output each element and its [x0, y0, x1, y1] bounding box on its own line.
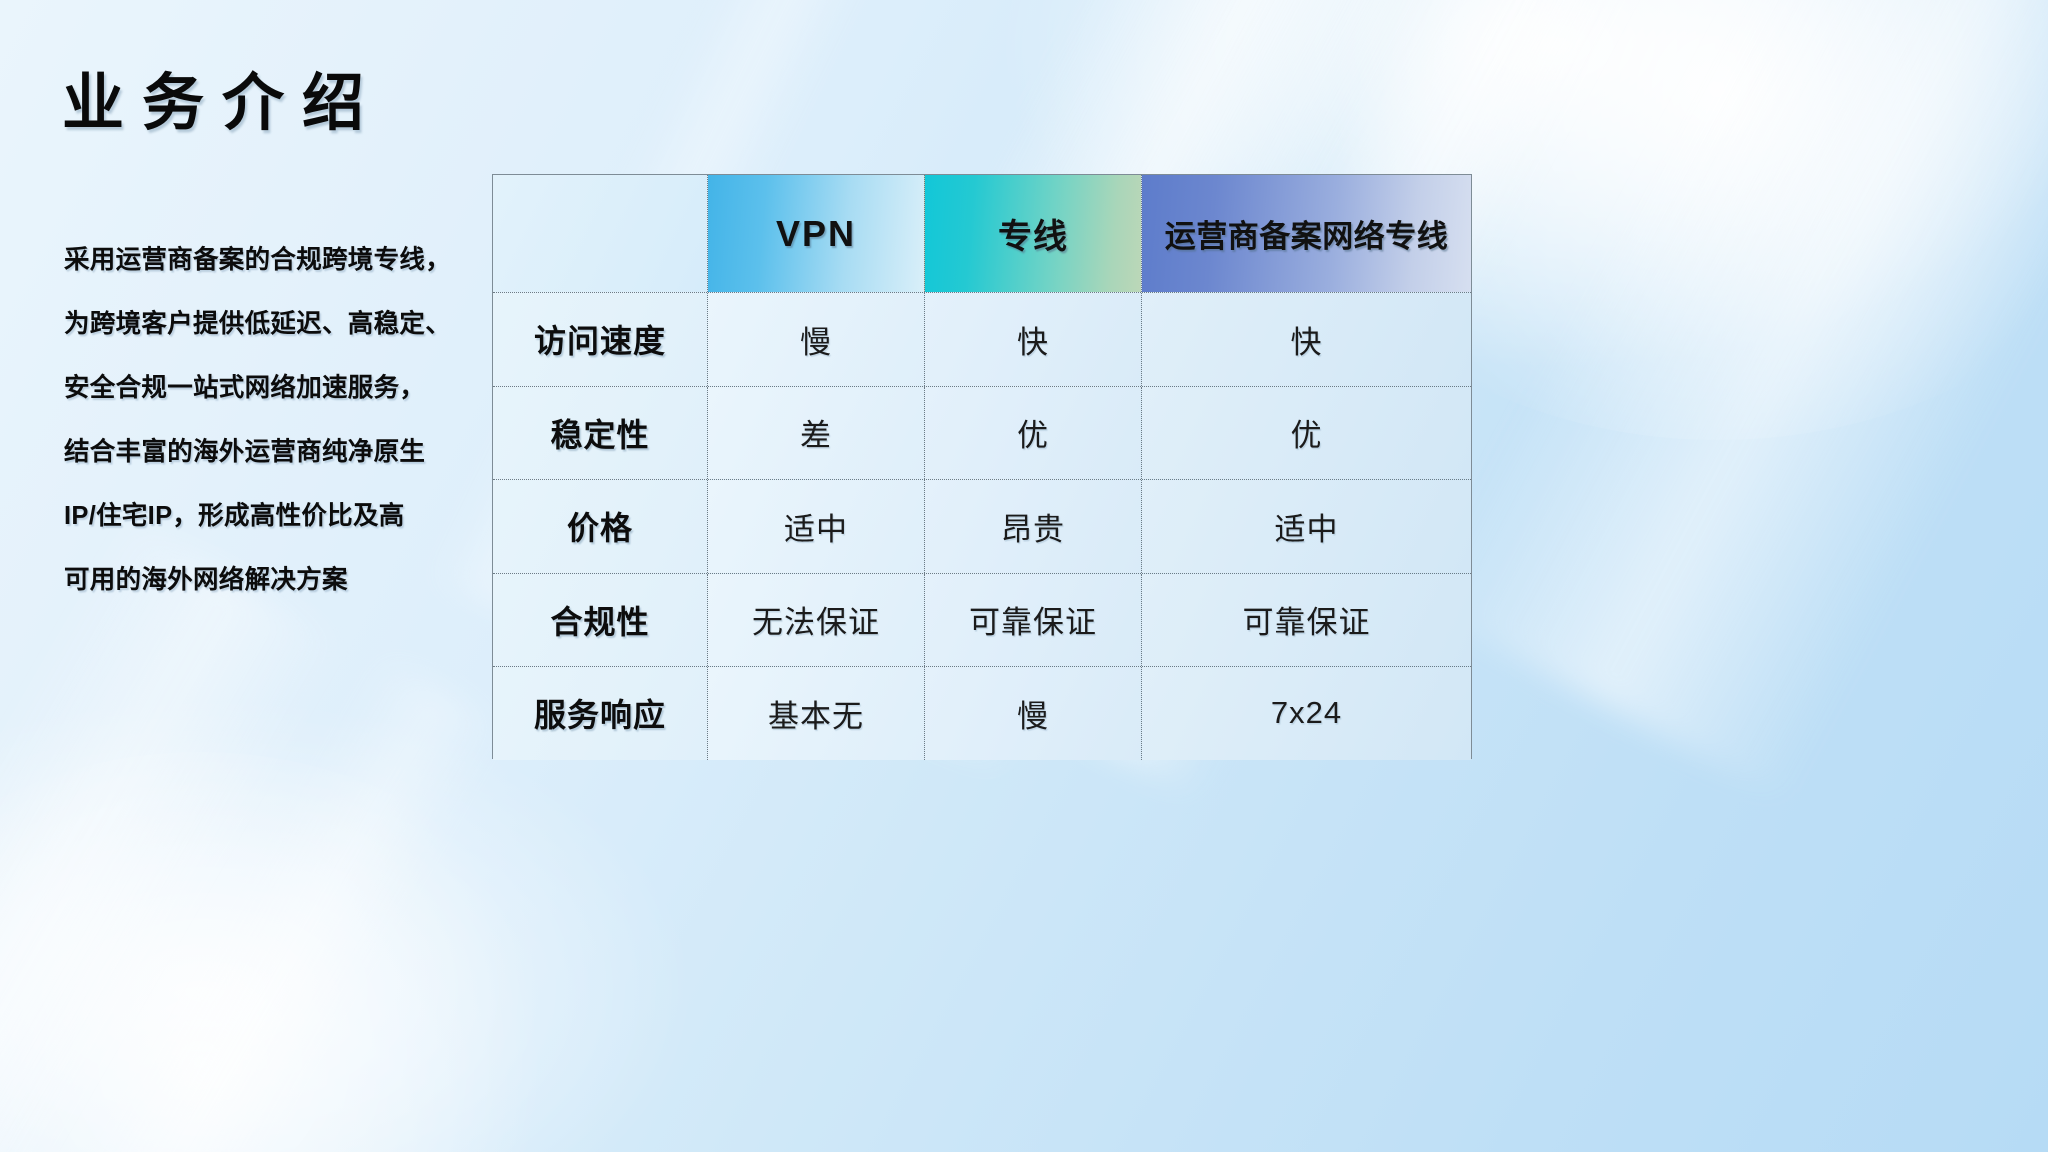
cell-value: 适中	[1275, 504, 1339, 549]
cell-value: 慢	[1017, 691, 1049, 736]
table-header-vpn: VPN	[707, 175, 924, 292]
cell-value: 7x24	[1271, 695, 1342, 731]
cell-value: 昂贵	[1001, 504, 1065, 549]
bottom-left-glow	[0, 752, 580, 1152]
cell-value: 优	[1291, 410, 1323, 455]
table-cell: 优	[924, 387, 1141, 480]
table-row: 稳定性 差 优 优	[493, 386, 1471, 480]
cell-value: 慢	[800, 317, 832, 362]
page-title: 业务介绍	[62, 52, 382, 142]
cell-value: 快	[1017, 317, 1049, 362]
table-header-row: VPN 专线 运营商备案网络专线	[493, 175, 1471, 292]
table-header-corner	[493, 175, 707, 292]
paragraph-line: 采用运营商备案的合规跨境专线，	[64, 228, 484, 292]
table-header-label: VPN	[776, 213, 856, 255]
table-header-registered-line: 运营商备案网络专线	[1141, 175, 1471, 292]
light-streak	[1415, 0, 2048, 801]
row-label: 合规性	[550, 597, 649, 643]
table-row-label-cell: 合规性	[493, 574, 707, 667]
table-cell: 慢	[707, 293, 924, 386]
intro-paragraph: 采用运营商备案的合规跨境专线， 为跨境客户提供低延迟、高稳定、 安全合规一站式网…	[64, 228, 484, 612]
cell-value: 可靠保证	[969, 597, 1097, 642]
paragraph-line: IP/住宅IP，形成高性价比及高	[64, 484, 484, 548]
cell-value: 可靠保证	[1243, 597, 1371, 642]
table-row: 访问速度 慢 快 快	[493, 292, 1471, 386]
table-row-label-cell: 服务响应	[493, 667, 707, 760]
table-cell: 慢	[924, 667, 1141, 760]
paragraph-line: 可用的海外网络解决方案	[64, 548, 484, 612]
cell-value: 优	[1017, 410, 1049, 455]
table-cell: 适中	[707, 480, 924, 573]
paragraph-line: 结合丰富的海外运营商纯净原生	[64, 420, 484, 484]
cell-value: 基本无	[768, 691, 864, 736]
table-cell: 适中	[1141, 480, 1471, 573]
table-cell: 可靠保证	[924, 574, 1141, 667]
table-cell: 差	[707, 387, 924, 480]
row-label: 服务响应	[534, 690, 666, 736]
table-row: 价格 适中 昂贵 适中	[493, 479, 1471, 573]
table-cell: 快	[924, 293, 1141, 386]
table-cell: 7x24	[1141, 667, 1471, 760]
table-header-dedicated-line: 专线	[924, 175, 1141, 292]
cell-value: 快	[1291, 317, 1323, 362]
comparison-table: VPN 专线 运营商备案网络专线 访问速度 慢 快 快	[492, 174, 1472, 759]
cell-value: 差	[800, 410, 832, 455]
table-cell: 无法保证	[707, 574, 924, 667]
table-header-label: 专线	[998, 209, 1068, 258]
table-row-label-cell: 价格	[493, 480, 707, 573]
cell-value: 适中	[784, 504, 848, 549]
row-label: 访问速度	[534, 316, 666, 362]
table-cell: 基本无	[707, 667, 924, 760]
row-label: 价格	[567, 503, 633, 549]
row-label: 稳定性	[550, 410, 649, 456]
cell-value: 无法保证	[752, 597, 880, 642]
slide-canvas: 业务介绍 采用运营商备案的合规跨境专线， 为跨境客户提供低延迟、高稳定、 安全合…	[0, 0, 2048, 1152]
paragraph-line: 安全合规一站式网络加速服务，	[64, 356, 484, 420]
table-header-label: 运营商备案网络专线	[1165, 211, 1449, 256]
table-row: 合规性 无法保证 可靠保证 可靠保证	[493, 573, 1471, 667]
table-row-label-cell: 稳定性	[493, 387, 707, 480]
table-cell: 优	[1141, 387, 1471, 480]
table-row: 服务响应 基本无 慢 7x24	[493, 666, 1471, 760]
paragraph-line: 为跨境客户提供低延迟、高稳定、	[64, 292, 484, 356]
light-streak	[0, 653, 510, 1152]
table-row-label-cell: 访问速度	[493, 293, 707, 386]
table-cell: 快	[1141, 293, 1471, 386]
table-cell: 可靠保证	[1141, 574, 1471, 667]
table-cell: 昂贵	[924, 480, 1141, 573]
